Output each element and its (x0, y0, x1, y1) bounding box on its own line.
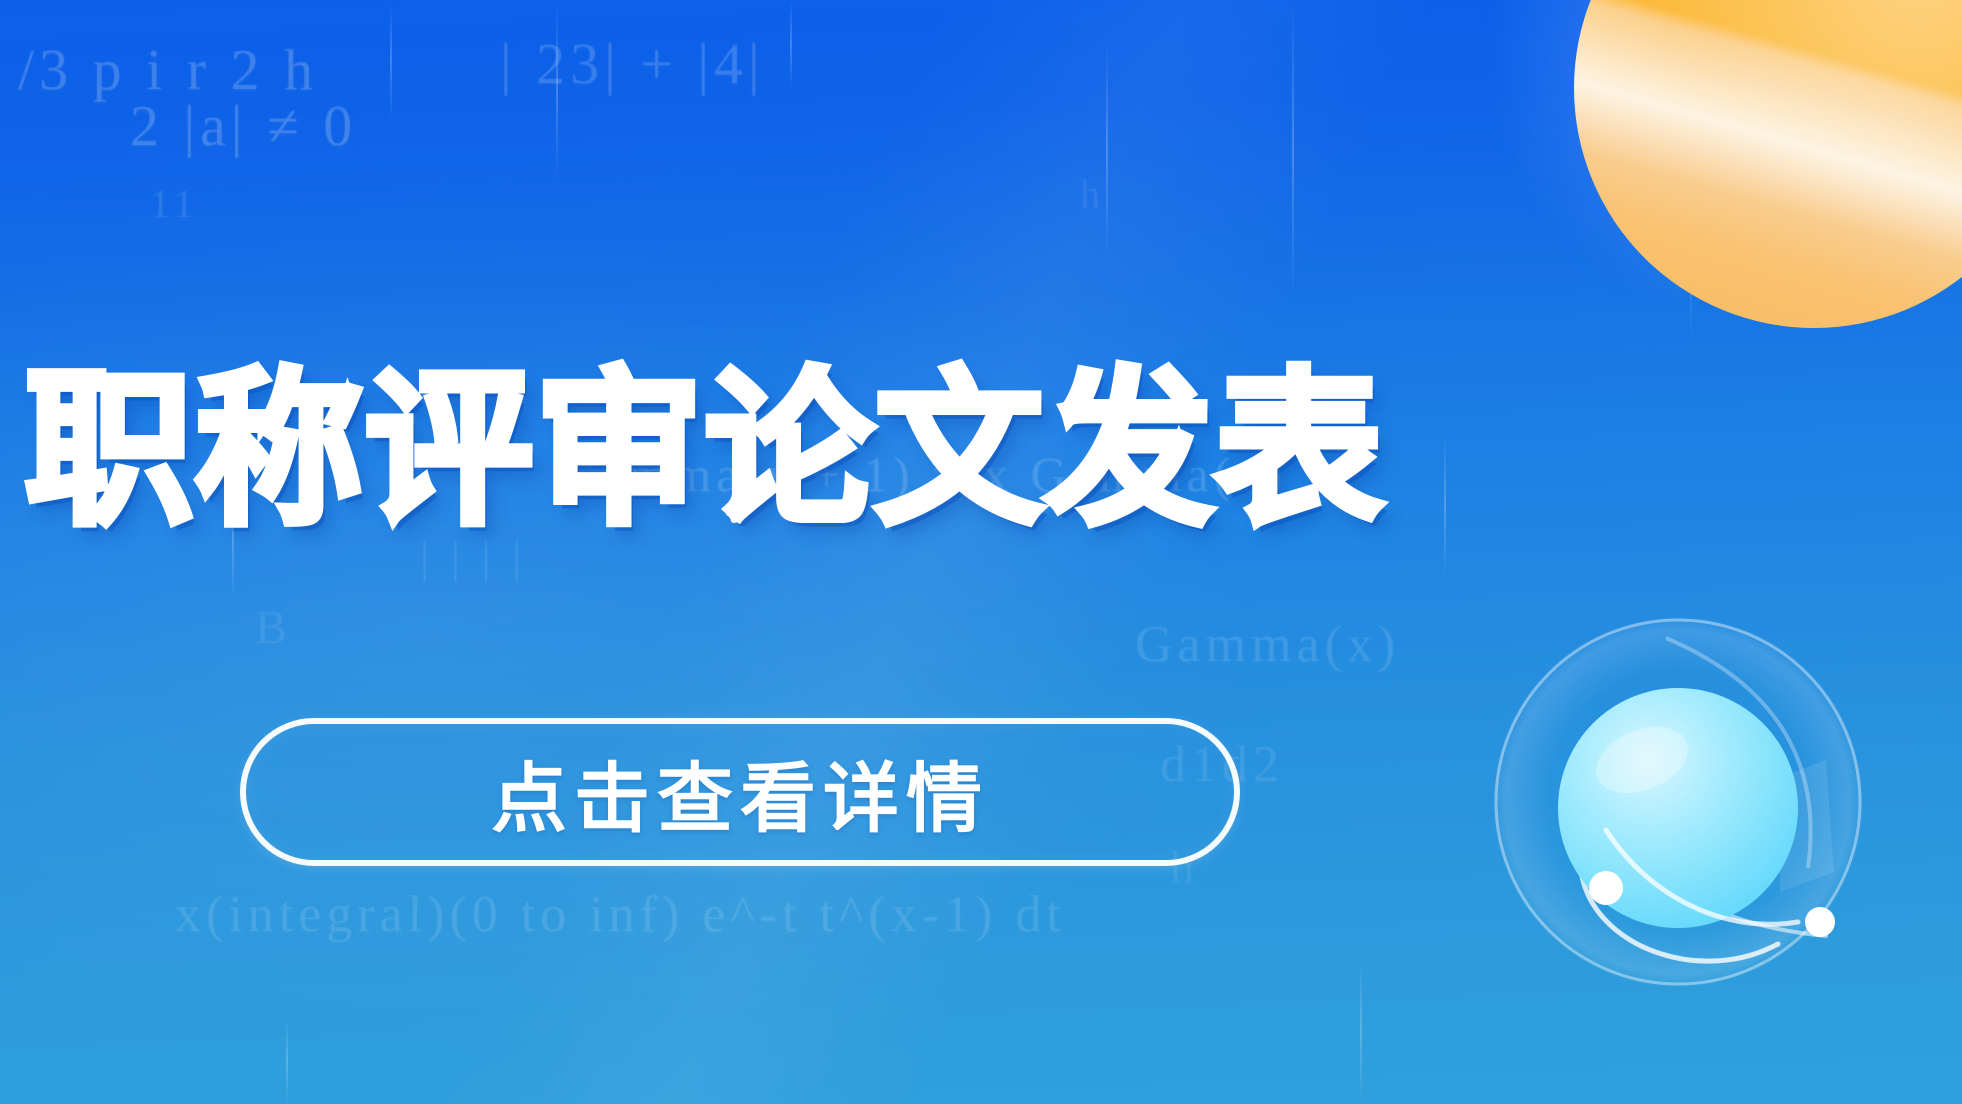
streak-line (1292, 0, 1294, 300)
streak-line (790, 0, 792, 90)
light-streaks (0, 0, 1962, 1104)
view-details-button-label: 点击查看详情 (491, 737, 989, 847)
planet-glow (1464, 0, 1934, 296)
view-details-button[interactable]: 点击查看详情 (240, 718, 1240, 866)
page-title: 职称评审论文发表 (25, 361, 1385, 539)
planet-body (1574, 0, 1962, 328)
atom-icon (1478, 592, 1878, 992)
streak-line (1690, 130, 1692, 340)
formula-text: 11 (150, 180, 199, 227)
streak-line (1444, 430, 1446, 580)
streak-line (1360, 960, 1362, 1104)
formula-text: x(integral)(0 to inf) e^-t t^(x-1) dt (175, 885, 1066, 944)
formula-background: /3 p i r 2 h 2 |a| ≠ 0 | 23| + |4| h Gam… (0, 0, 1962, 1104)
planet-icon (1574, 0, 1962, 328)
formula-text: h (1080, 170, 1105, 217)
streak-line (390, 0, 392, 120)
background-sheen (0, 0, 1962, 1104)
planet-highlight (1574, 0, 1962, 328)
streak-line (1106, 40, 1108, 260)
formula-text: Gamma(x) (1135, 615, 1400, 674)
streak-line (286, 1020, 288, 1104)
formula-text: B (255, 600, 292, 655)
formula-text: | 23| + |4| (500, 30, 765, 97)
formula-text: /3 p i r 2 h (18, 36, 318, 103)
promo-banner: /3 p i r 2 h 2 |a| ≠ 0 | 23| + |4| h Gam… (0, 0, 1962, 1104)
formula-text: 2 |a| ≠ 0 (130, 92, 357, 159)
streak-line (556, 0, 558, 180)
